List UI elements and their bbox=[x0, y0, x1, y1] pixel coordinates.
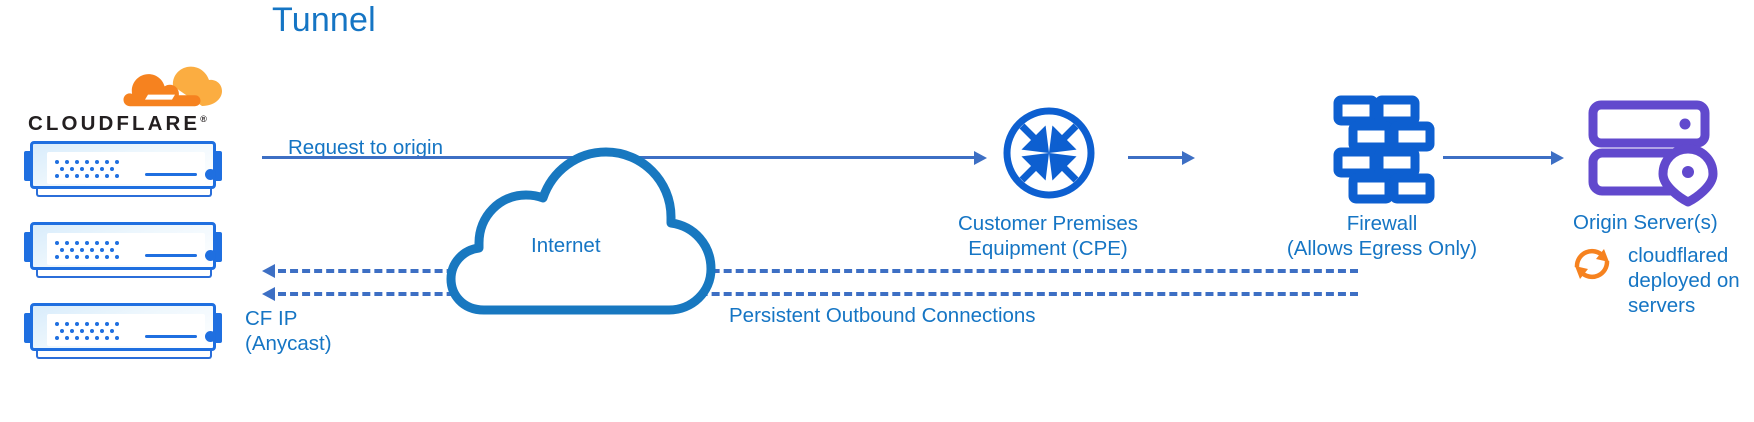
cf-ip-label-line2: (Anycast) bbox=[245, 331, 332, 356]
firewall-to-origin-arrowhead bbox=[1551, 151, 1564, 165]
cloudflared-label-line1: cloudflared bbox=[1628, 243, 1728, 268]
router-status-bar bbox=[145, 335, 197, 338]
router-body bbox=[30, 222, 216, 270]
cloudflared-annotation bbox=[1571, 243, 1613, 285]
origin-servers-node bbox=[1588, 100, 1716, 202]
customer-premises-equipment-node bbox=[1001, 105, 1097, 201]
cloud-icon bbox=[446, 140, 718, 315]
converge-arrows-circle-icon bbox=[1001, 105, 1097, 201]
customer-premises-equipment-label-line1: Customer Premises bbox=[898, 211, 1198, 236]
internet-cloud: Internet bbox=[446, 140, 718, 315]
cloudflare-wordmark-text: CLOUDFLARE bbox=[28, 112, 200, 135]
cloudflare-edge-router-1 bbox=[22, 139, 224, 201]
internet-label: Internet bbox=[531, 233, 601, 258]
cpe-to-firewall-arrowhead bbox=[1182, 151, 1195, 165]
cloudflare-edge-router-3 bbox=[22, 301, 224, 363]
cloudflared-label-line3: servers bbox=[1628, 293, 1695, 318]
router-status-bar bbox=[145, 173, 197, 176]
persistent-outbound-line-upper bbox=[278, 269, 1358, 273]
cloudflare-wordmark: CLOUDFLARE® bbox=[28, 112, 228, 136]
brick-wall-icon bbox=[1333, 95, 1431, 197]
registered-mark: ® bbox=[200, 114, 207, 124]
router-led-indicator bbox=[205, 250, 216, 261]
router-led-indicator bbox=[205, 169, 216, 180]
cloudflared-label-line2: deployed on bbox=[1628, 268, 1740, 293]
firewall-label-line1: Firewall bbox=[1232, 211, 1532, 236]
persistent-outbound-arrowhead-upper bbox=[262, 264, 275, 278]
server-rack-location-pin-icon bbox=[1588, 100, 1716, 202]
router-body bbox=[30, 303, 216, 351]
cloudflare-edge-router-2 bbox=[22, 220, 224, 282]
page-title: Tunnel bbox=[272, 8, 376, 33]
router-status-bar bbox=[145, 254, 197, 257]
request-to-origin-arrowhead bbox=[974, 151, 987, 165]
router-led-indicator bbox=[205, 331, 216, 342]
persistent-outbound-line-lower bbox=[278, 292, 1358, 296]
sync-arrows-icon bbox=[1571, 243, 1613, 285]
cloudflare-cloud-logo-icon bbox=[106, 66, 226, 110]
cf-ip-label-line1: CF IP bbox=[245, 306, 297, 331]
router-body bbox=[30, 141, 216, 189]
cpe-to-firewall-line bbox=[1128, 156, 1184, 159]
customer-premises-equipment-label-line2: Equipment (CPE) bbox=[898, 236, 1198, 261]
origin-servers-label: Origin Server(s) bbox=[1573, 210, 1718, 235]
firewall-to-origin-line bbox=[1443, 156, 1553, 159]
cloudflare-tunnel-diagram: Tunnel CLOUDFLARE® bbox=[0, 0, 1754, 422]
cloudflare-logo: CLOUDFLARE® bbox=[28, 72, 228, 140]
persistent-outbound-connections-label: Persistent Outbound Connections bbox=[729, 303, 1036, 328]
firewall-node bbox=[1333, 95, 1431, 197]
persistent-outbound-arrowhead-lower bbox=[262, 287, 275, 301]
firewall-label-line2: (Allows Egress Only) bbox=[1232, 236, 1532, 261]
